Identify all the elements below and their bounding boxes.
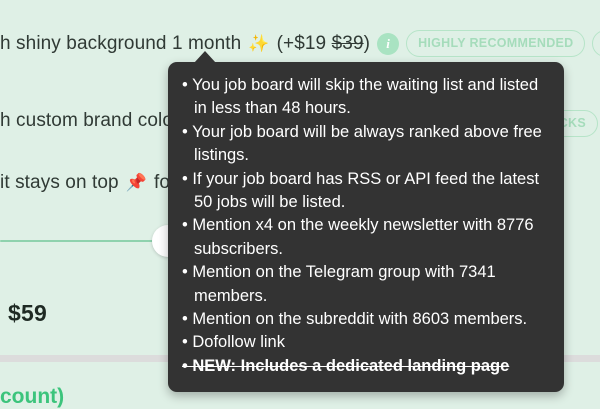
tooltip-bullet-1: • Your job board will be always ranked a…	[182, 121, 548, 168]
feature-price-note: (+$19 $39)	[277, 33, 370, 55]
feature-row-custom-brand-color: h custom brand colo	[0, 110, 173, 132]
feature-row-shiny-background: h shiny background 1 month ✨ (+$19 $39) …	[0, 30, 600, 57]
tooltip-bullet-6: • Dofollow link	[182, 331, 548, 354]
tooltip-bullet-0: • You job board will skip the waiting li…	[182, 74, 548, 121]
badge-20x-more: 20X M	[592, 30, 600, 57]
price-note-prefix: (+$19	[277, 33, 332, 54]
price-note-suffix: )	[364, 33, 370, 54]
info-icon[interactable]: i	[377, 33, 399, 55]
tooltip-bullet-5: • Mention on the subreddit with 8603 mem…	[182, 308, 548, 331]
plan-price: $59	[8, 300, 47, 327]
sparkles-icon: ✨	[248, 34, 269, 54]
feature-row-stays-on-top: it stays on top 📌 fo	[0, 172, 170, 194]
feature-label-custom-brand-color: h custom brand colo	[0, 110, 173, 132]
tooltip-bullet-4: • Mention on the Telegram group with 734…	[182, 261, 548, 308]
feature-label-stays-on-top: it stays on top	[0, 172, 119, 194]
pushpin-icon: 📌	[126, 173, 147, 193]
shiny-background-info-tooltip: • You job board will skip the waiting li…	[168, 62, 564, 392]
tooltip-bullet-3: • Mention x4 on the weekly newsletter wi…	[182, 214, 548, 261]
tooltip-bullet-7: • NEW: Includes a dedicated landing page	[182, 355, 548, 378]
price-note-original: $39	[332, 33, 364, 54]
badge-highly-recommended: HIGHLY RECOMMENDED	[406, 30, 585, 57]
discount-label: count)	[0, 385, 64, 409]
tooltip-arrow	[194, 51, 216, 63]
plan-slider-track[interactable]	[0, 240, 162, 242]
tooltip-bullet-2: • If your job board has RSS or API feed …	[182, 168, 548, 215]
